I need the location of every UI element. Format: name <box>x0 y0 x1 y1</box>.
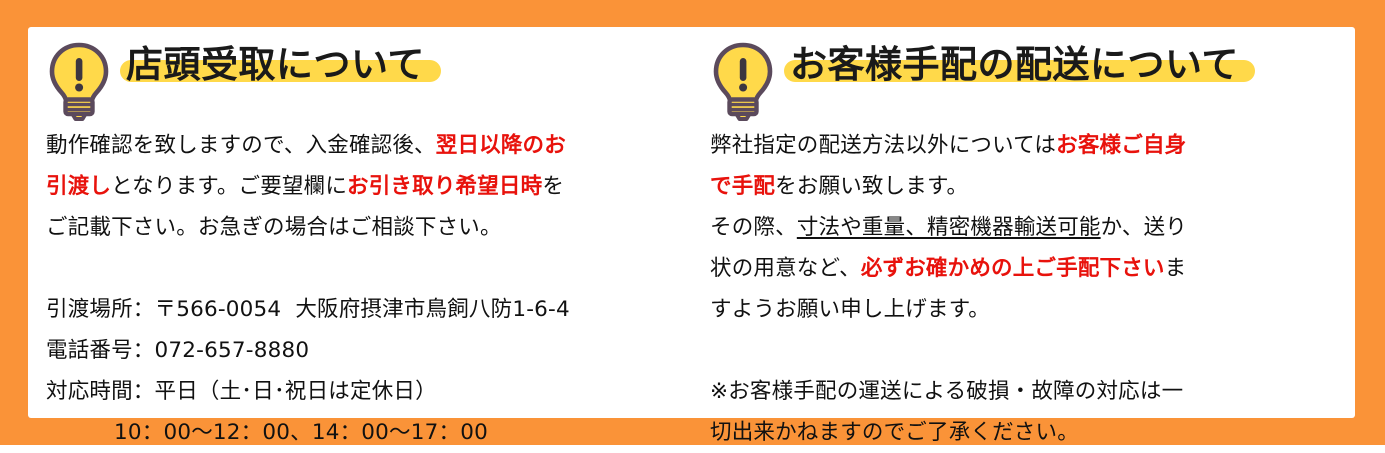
paragraph-spacer <box>46 248 688 289</box>
lightbulb-icon <box>710 41 776 121</box>
shipping-heading-row: お客様手配の配送について <box>710 39 1353 125</box>
pickup-phone-line: 電話番号：072-657-8880 <box>46 330 688 371</box>
shipping-intro-line-2: で手配をお願い致します。 <box>710 166 1353 207</box>
pickup-address-line: 引渡場所：〒566-0054大阪府摂津市鳥飼八防1-6-4 <box>46 289 688 330</box>
emphasis-red: お引き取り希望日時 <box>347 174 542 199</box>
shipping-note-line-1: ※お客様手配の運送による破損・故障の対応は一 <box>710 371 1353 412</box>
pickup-heading-row: 店頭受取について <box>46 39 688 125</box>
paragraph-spacer <box>710 330 1353 371</box>
shipping-intro-line-4: 状の用意など、必ずお確かめの上ご手配下さいま <box>710 248 1353 289</box>
pickup-heading-label: 店頭受取について <box>126 43 425 86</box>
info-panel: 店頭受取について 動作確認を致しますので、入金確認後、翌日以降のお 引渡しとなり… <box>0 0 1385 445</box>
shipping-intro-line-3: その際、寸法や重量、精密機器輸送可能か、送り <box>710 207 1353 248</box>
emphasis-red: 翌日以降のお <box>436 133 566 158</box>
shipping-heading-label: お客様手配の配送について <box>790 43 1239 86</box>
column-pickup: 店頭受取について 動作確認を致しますので、入金確認後、翌日以降のお 引渡しとなり… <box>28 39 688 418</box>
lightbulb-icon <box>46 41 112 121</box>
pickup-intro-line-3: ご記載下さい。お急ぎの場合はご相談下さい。 <box>46 207 688 248</box>
emphasis-underline: 寸法や重量、精密機器輸送可能 <box>797 215 1101 240</box>
pickup-intro-line-2: 引渡しとなります。ご要望欄にお引き取り希望日時を <box>46 166 688 207</box>
pickup-body: 動作確認を致しますので、入金確認後、翌日以降のお 引渡しとなります。ご要望欄にお… <box>46 125 688 453</box>
pickup-hours-times: 10：00〜12：00、14：00〜17：00 <box>46 412 688 453</box>
emphasis-red: で手配 <box>710 174 775 199</box>
shipping-heading-wrap: お客様手配の配送について <box>790 45 1239 86</box>
panel-inner: 店頭受取について 動作確認を致しますので、入金確認後、翌日以降のお 引渡しとなり… <box>28 27 1355 418</box>
pickup-heading-wrap: 店頭受取について <box>126 45 425 86</box>
emphasis-red: お客様ご自身 <box>1056 133 1186 158</box>
shipping-intro-line-5: すようお願い申し上げます。 <box>710 289 1353 330</box>
emphasis-red: 引渡し <box>46 174 111 199</box>
pickup-intro-line-1: 動作確認を致しますので、入金確認後、翌日以降のお <box>46 125 688 166</box>
shipping-intro-line-1: 弊社指定の配送方法以外についてはお客様ご自身 <box>710 125 1353 166</box>
shipping-body: 弊社指定の配送方法以外についてはお客様ご自身 で手配をお願い致します。 その際、… <box>710 125 1353 453</box>
column-shipping: お客様手配の配送について 弊社指定の配送方法以外についてはお客様ご自身 で手配を… <box>688 39 1353 418</box>
pickup-hours-line: 対応時間：平日（土･日･祝日は定休日） <box>46 371 688 412</box>
shipping-note-line-2: 切出来かねますのでご了承ください。 <box>710 412 1353 453</box>
emphasis-red: 必ずお確かめの上ご手配下さい <box>861 256 1165 281</box>
